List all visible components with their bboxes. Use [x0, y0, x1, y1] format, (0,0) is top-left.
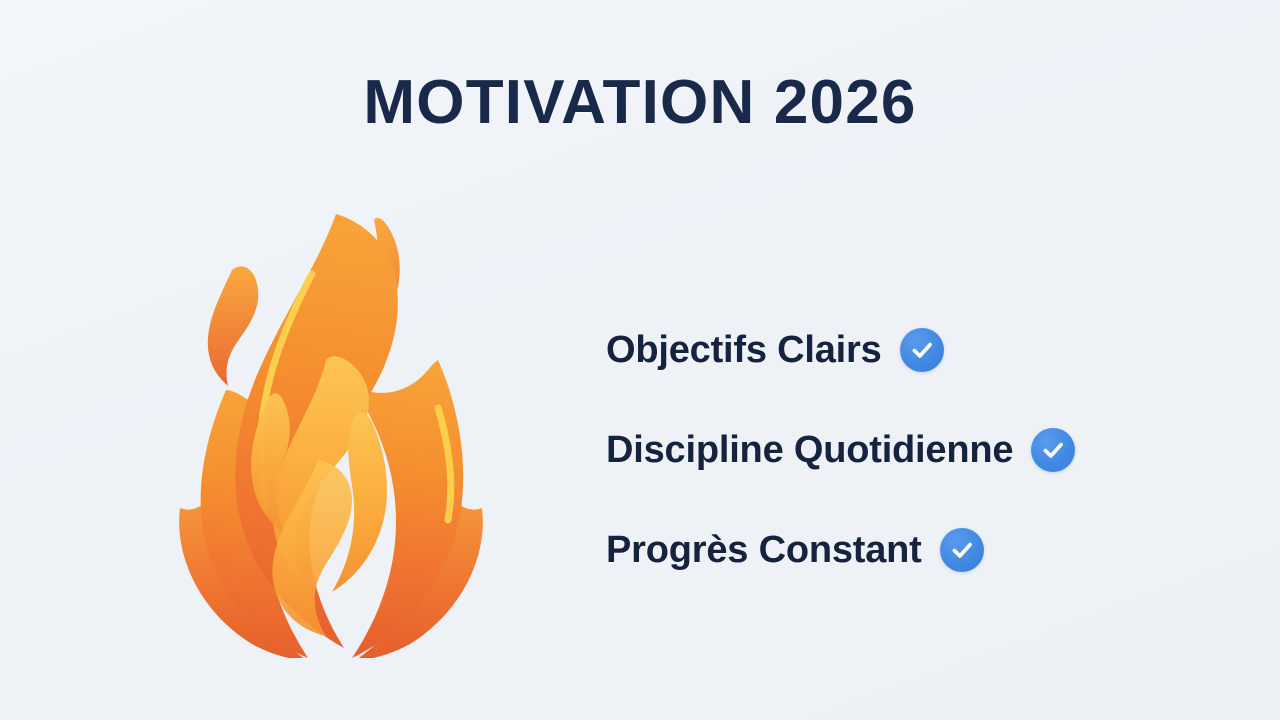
- motivation-slide: MOTIVATION 2026: [0, 0, 1280, 720]
- check-icon: [900, 328, 944, 372]
- feature-label: Discipline Quotidienne: [606, 431, 1013, 469]
- flame-icon: [166, 208, 496, 658]
- list-item[interactable]: Objectifs Clairs: [606, 300, 1206, 400]
- feature-label: Objectifs Clairs: [606, 331, 882, 369]
- list-item[interactable]: Progrès Constant: [606, 500, 1206, 600]
- list-item[interactable]: Discipline Quotidienne: [606, 400, 1206, 500]
- feature-label: Progrès Constant: [606, 531, 922, 569]
- page-title: MOTIVATION 2026: [0, 72, 1280, 134]
- feature-list: Objectifs Clairs Discipline Quotidienne …: [606, 300, 1206, 600]
- check-icon: [1031, 428, 1075, 472]
- check-icon: [940, 528, 984, 572]
